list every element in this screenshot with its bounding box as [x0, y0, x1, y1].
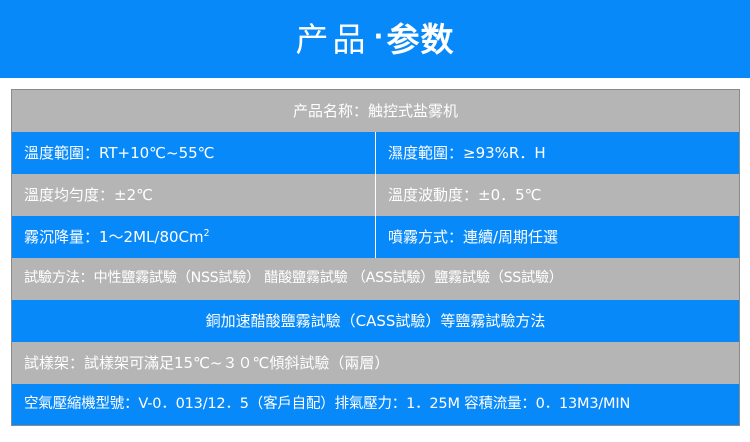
table-row-cass-test-method: 銅加速醋酸鹽霧試驗（CASS試驗）等鹽霧試驗方法 [12, 300, 740, 342]
sample-rack-cell: 試樣架：試樣架可滿足15℃~３０℃傾斜試驗（兩層） [12, 342, 740, 384]
table-row-temperature-humidity-range: 溫度範圍：RT+10℃~55℃ 濕度範圍：≥93%R．H [12, 132, 740, 174]
temperature-range-cell: 溫度範圍：RT+10℃~55℃ [12, 132, 376, 174]
page-title-separator-dot: · [370, 24, 387, 50]
cass-test-method-cell: 銅加速醋酸鹽霧試驗（CASS試驗）等鹽霧試驗方法 [12, 300, 740, 342]
humidity-range-cell: 濕度範圍：≥93%R．H [376, 132, 740, 174]
page-title-primary: 产品 [296, 23, 370, 56]
table-row-product-name: 产品名称：触控式盐雾机 [12, 90, 740, 132]
page-title-secondary: 参数 [386, 23, 454, 56]
air-compressor-cell: 空氣壓縮機型號：V-0．013/12．5（客戶自配）排氣壓力：1．25M 容積流… [12, 384, 740, 426]
fog-deposition-cell: 霧沉降量：1～2ML/80Cm2 [12, 216, 376, 258]
temperature-uniformity-cell: 溫度均勻度：±2℃ [12, 174, 376, 216]
table-row-air-compressor: 空氣壓縮機型號：V-0．013/12．5（客戶自配）排氣壓力：1．25M 容積流… [12, 384, 740, 426]
table-row-sample-rack: 試樣架：試樣架可滿足15℃~３０℃傾斜試驗（兩層） [12, 342, 740, 384]
spray-mode-cell: 噴霧方式：連續/周期任選 [376, 216, 740, 258]
fog-deposition-unit-superscript: 2 [204, 228, 210, 239]
table-row-temperature-uniformity-fluctuation: 溫度均勻度：±2℃ 溫度波動度：±0．5℃ [12, 174, 740, 216]
table-row-fog-deposition-spray-mode: 霧沉降量：1～2ML/80Cm2 噴霧方式：連續/周期任選 [12, 216, 740, 258]
page-banner: 产品 · 参数 [0, 0, 750, 78]
test-methods-cell: 試驗方法：中性鹽霧試驗（NSS試驗） 醋酸鹽霧試驗 （ASS試驗）鹽霧試驗（SS… [12, 258, 740, 300]
product-name-cell: 产品名称：触控式盐雾机 [12, 90, 740, 132]
spec-table-container: 产品名称：触控式盐雾机 溫度範圍：RT+10℃~55℃ 濕度範圍：≥93%R．H… [0, 78, 750, 442]
product-spec-table: 产品名称：触控式盐雾机 溫度範圍：RT+10℃~55℃ 濕度範圍：≥93%R．H… [11, 89, 740, 426]
table-row-test-methods: 試驗方法：中性鹽霧試驗（NSS試驗） 醋酸鹽霧試驗 （ASS試驗）鹽霧試驗（SS… [12, 258, 740, 300]
page-title: 产品 · 参数 [296, 23, 455, 56]
fog-deposition-value: 霧沉降量：1～2ML/80Cm [24, 228, 204, 246]
temperature-fluctuation-cell: 溫度波動度：±0．5℃ [376, 174, 740, 216]
